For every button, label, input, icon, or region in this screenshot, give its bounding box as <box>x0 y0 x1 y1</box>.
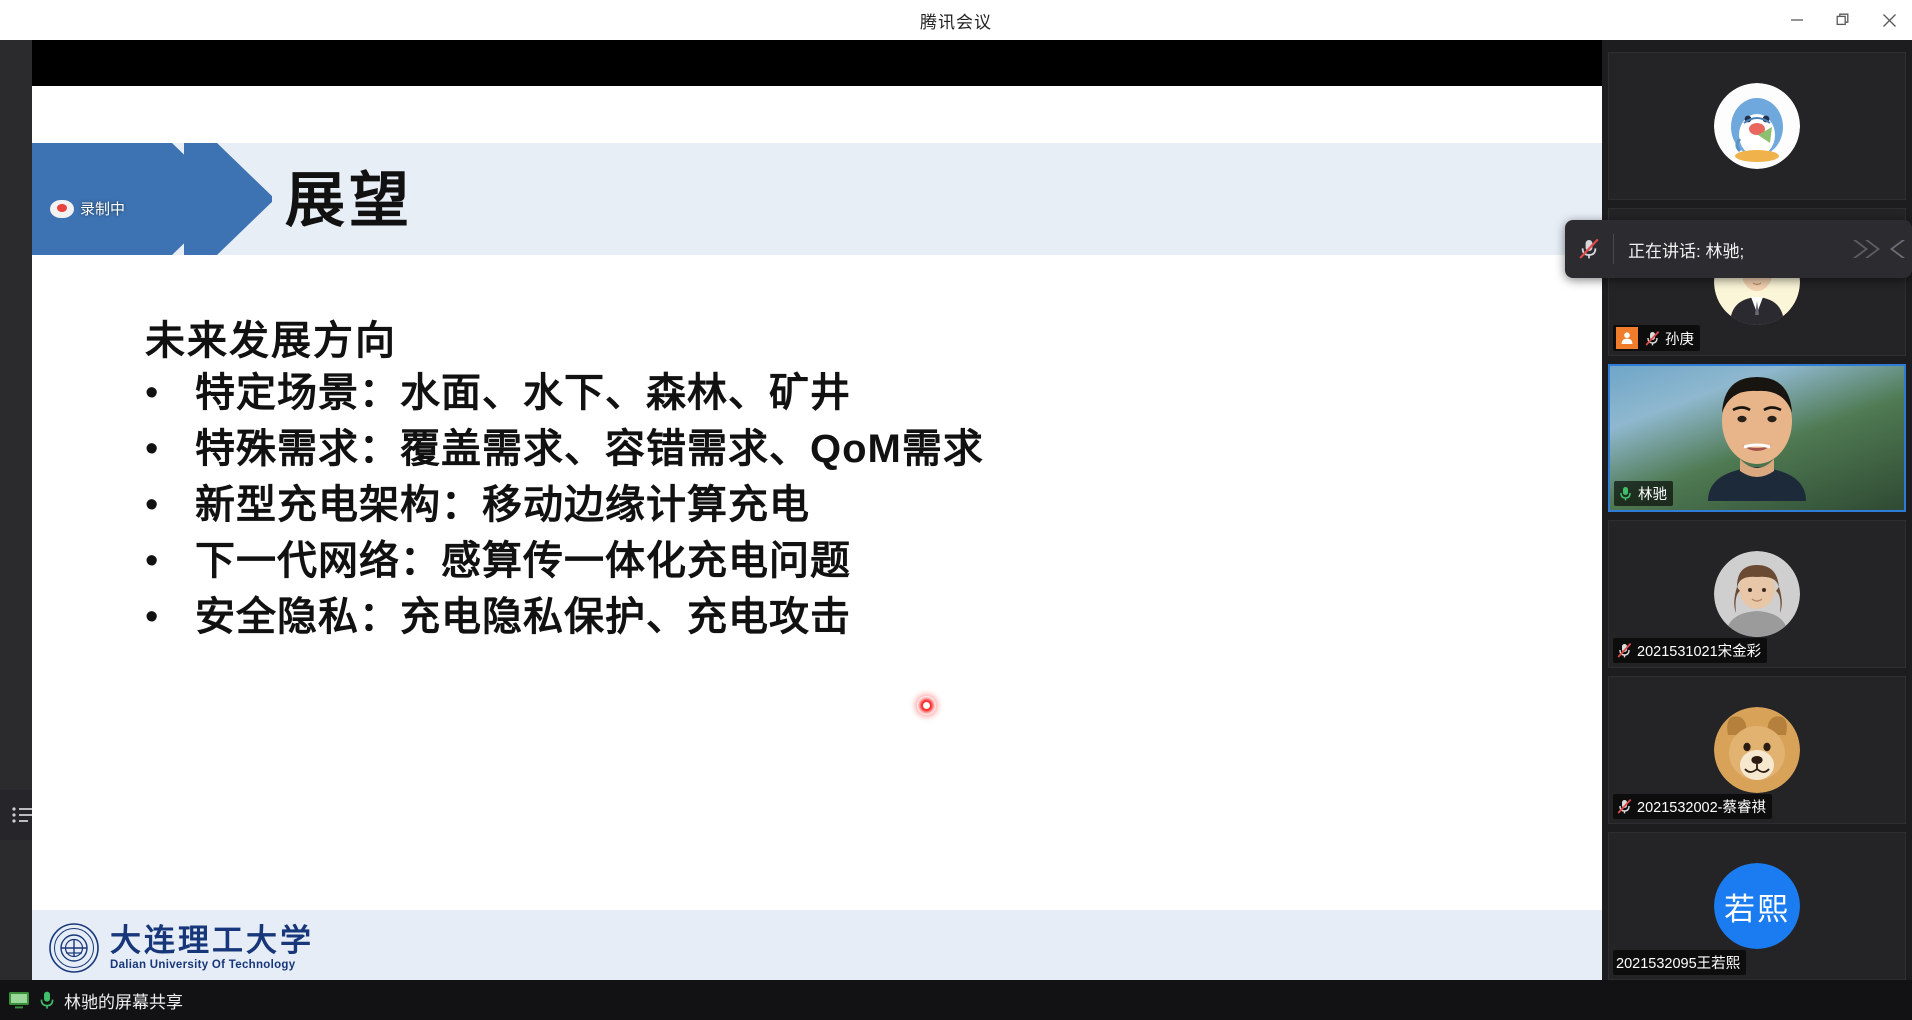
mic-muted-icon <box>1616 798 1633 815</box>
avatar <box>1714 83 1800 169</box>
participant-tile[interactable]: 若熙 2021532095王若熙 <box>1608 832 1906 980</box>
presentation-slide: 展望 录制中 未来发展方向 • 特定场景：水面、水下、森林、矿井 • <box>32 86 1602 986</box>
avatar: 若熙 <box>1714 863 1800 949</box>
speaking-status-text: 正在讲话: 林驰; <box>1614 237 1852 262</box>
mic-muted-icon <box>1577 237 1601 261</box>
screen-share-icon <box>8 990 30 1010</box>
list-item: • 特殊需求：覆盖需求、容错需求、QoM需求 <box>137 422 1437 478</box>
girl-avatar-icon <box>1714 551 1800 637</box>
avatar <box>1714 707 1800 793</box>
share-status-text: 林驰的屏幕共享 <box>64 988 183 1013</box>
participant-tile[interactable]: 2021531021宋金彩 <box>1608 520 1906 668</box>
active-speaker-toolbar[interactable]: 正在讲话: 林驰; <box>1565 220 1912 278</box>
participant-name-chip: 2021531021宋金彩 <box>1613 638 1767 663</box>
participant-name: 2021532002-蔡睿祺 <box>1637 796 1766 817</box>
participant-name-chip: 2021532095王若熙 <box>1613 950 1746 975</box>
app-title: 腾讯会议 <box>920 8 992 33</box>
host-badge <box>1616 327 1638 349</box>
participant-name-chip: 2021532002-蔡睿祺 <box>1613 794 1772 819</box>
university-name-en: Dalian University Of Technology <box>110 958 314 972</box>
university-name-cn: 大连理工大学 <box>110 924 314 958</box>
participant-name-chip: 孙庚 <box>1613 325 1700 351</box>
meeting-stage: 展望 录制中 未来发展方向 • 特定场景：水面、水下、森林、矿井 • <box>0 40 1912 980</box>
participant-name: 孙庚 <box>1665 328 1694 349</box>
minimize-button[interactable] <box>1774 0 1820 40</box>
recording-label: 录制中 <box>80 198 125 219</box>
slide-canvas: 展望 录制中 未来发展方向 • 特定场景：水面、水下、森林、矿井 • <box>32 86 1602 986</box>
university-seal-icon <box>48 922 100 974</box>
chevron-left-icon[interactable] <box>1888 234 1906 264</box>
dog-avatar-icon <box>1714 707 1800 793</box>
participant-tile-active-speaker[interactable]: 林驰 <box>1608 364 1906 512</box>
participant-tile[interactable] <box>1608 52 1906 200</box>
bullet-text: 新型充电架构：移动边缘计算充电 <box>195 478 810 532</box>
laser-pointer <box>917 696 936 715</box>
record-dot-icon <box>50 200 74 218</box>
participants-panel[interactable]: 孙庚 <box>1602 40 1912 980</box>
participant-video-face <box>1698 364 1816 501</box>
bullet-text: 特殊需求：覆盖需求、容错需求、QoM需求 <box>195 422 984 476</box>
participant-name: 林驰 <box>1638 483 1667 504</box>
close-button[interactable] <box>1866 0 1912 40</box>
bullet-marker: • <box>137 590 195 644</box>
penguin-avatar-icon <box>1714 83 1800 169</box>
participant-name: 2021532095王若熙 <box>1616 952 1740 973</box>
bullet-marker: • <box>137 422 195 476</box>
mic-active-icon <box>1617 485 1634 502</box>
participant-name: 2021531021宋金彩 <box>1637 640 1761 661</box>
participant-tile[interactable]: 2021532002-蔡睿祺 <box>1608 676 1906 824</box>
restore-button[interactable] <box>1820 0 1866 40</box>
bullet-marker: • <box>137 534 195 588</box>
avatar-initials: 若熙 <box>1714 863 1800 949</box>
mic-muted-icon <box>1644 330 1661 347</box>
bullet-text: 特定场景：水面、水下、森林、矿井 <box>195 366 851 420</box>
list-item: • 特定场景：水面、水下、森林、矿井 <box>137 366 1437 422</box>
shared-screen-area[interactable]: 展望 录制中 未来发展方向 • 特定场景：水面、水下、森林、矿井 • <box>32 40 1602 980</box>
bullet-text: 下一代网络：感算传一体化充电问题 <box>195 534 851 588</box>
slide-footer: 大连理工大学 Dalian University Of Technology <box>32 910 1602 986</box>
status-bar: 林驰的屏幕共享 <box>0 980 1912 1020</box>
avatar <box>1714 551 1800 637</box>
bullet-marker: • <box>137 366 195 420</box>
university-logo: 大连理工大学 Dalian University Of Technology <box>48 922 314 974</box>
double-chevron-icon <box>1852 234 1886 264</box>
slide-heading: 未来发展方向 <box>145 308 397 366</box>
list-item: • 下一代网络：感算传一体化充电问题 <box>137 534 1437 590</box>
bullet-text: 安全隐私：充电隐私保护、充电攻击 <box>195 590 851 644</box>
title-bar: 腾讯会议 <box>0 0 1912 40</box>
person-icon <box>1620 331 1634 345</box>
mute-toggle-button[interactable] <box>1565 220 1613 278</box>
list-item: • 新型充电架构：移动边缘计算充电 <box>137 478 1437 534</box>
toolbar-collapse-controls[interactable] <box>1852 234 1912 264</box>
mic-muted-icon <box>1616 642 1633 659</box>
participant-name-chip: 林驰 <box>1614 481 1673 506</box>
slide-title: 展望 <box>285 152 413 239</box>
window-controls <box>1774 0 1912 40</box>
list-item: • 安全隐私：充电隐私保护、充电攻击 <box>137 590 1437 646</box>
mic-active-icon <box>39 990 55 1010</box>
slide-bullet-list: • 特定场景：水面、水下、森林、矿井 • 特殊需求：覆盖需求、容错需求、QoM需… <box>137 366 1437 646</box>
recording-indicator: 录制中 <box>50 198 125 219</box>
bullet-marker: • <box>137 478 195 532</box>
